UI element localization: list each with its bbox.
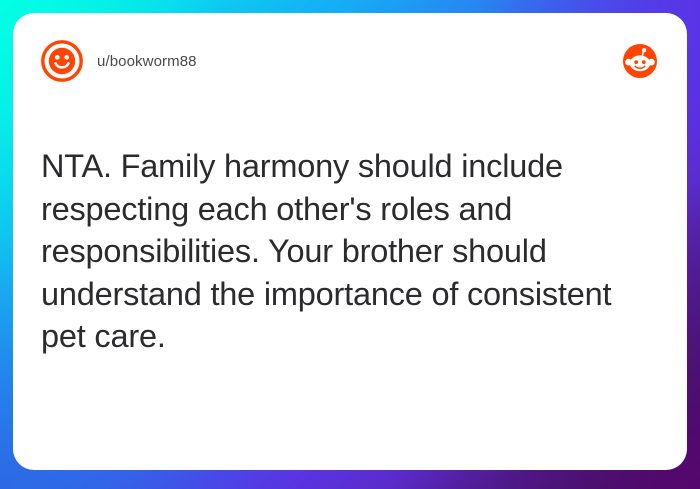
avatar[interactable] <box>41 40 83 82</box>
post-text: NTA. Family harmony should include respe… <box>41 145 641 358</box>
reddit-comment-card: u/bookworm88 <box>13 13 687 470</box>
username-label: u/bookworm88 <box>97 54 197 69</box>
reddit-snoo-icon <box>623 44 657 78</box>
card-header: u/bookworm88 <box>41 39 659 83</box>
smiley-face-avatar-icon <box>41 40 83 82</box>
screenshot-root: u/bookworm88 <box>0 0 700 489</box>
card-body: NTA. Family harmony should include respe… <box>41 83 659 444</box>
brand-logo[interactable] <box>623 44 659 78</box>
